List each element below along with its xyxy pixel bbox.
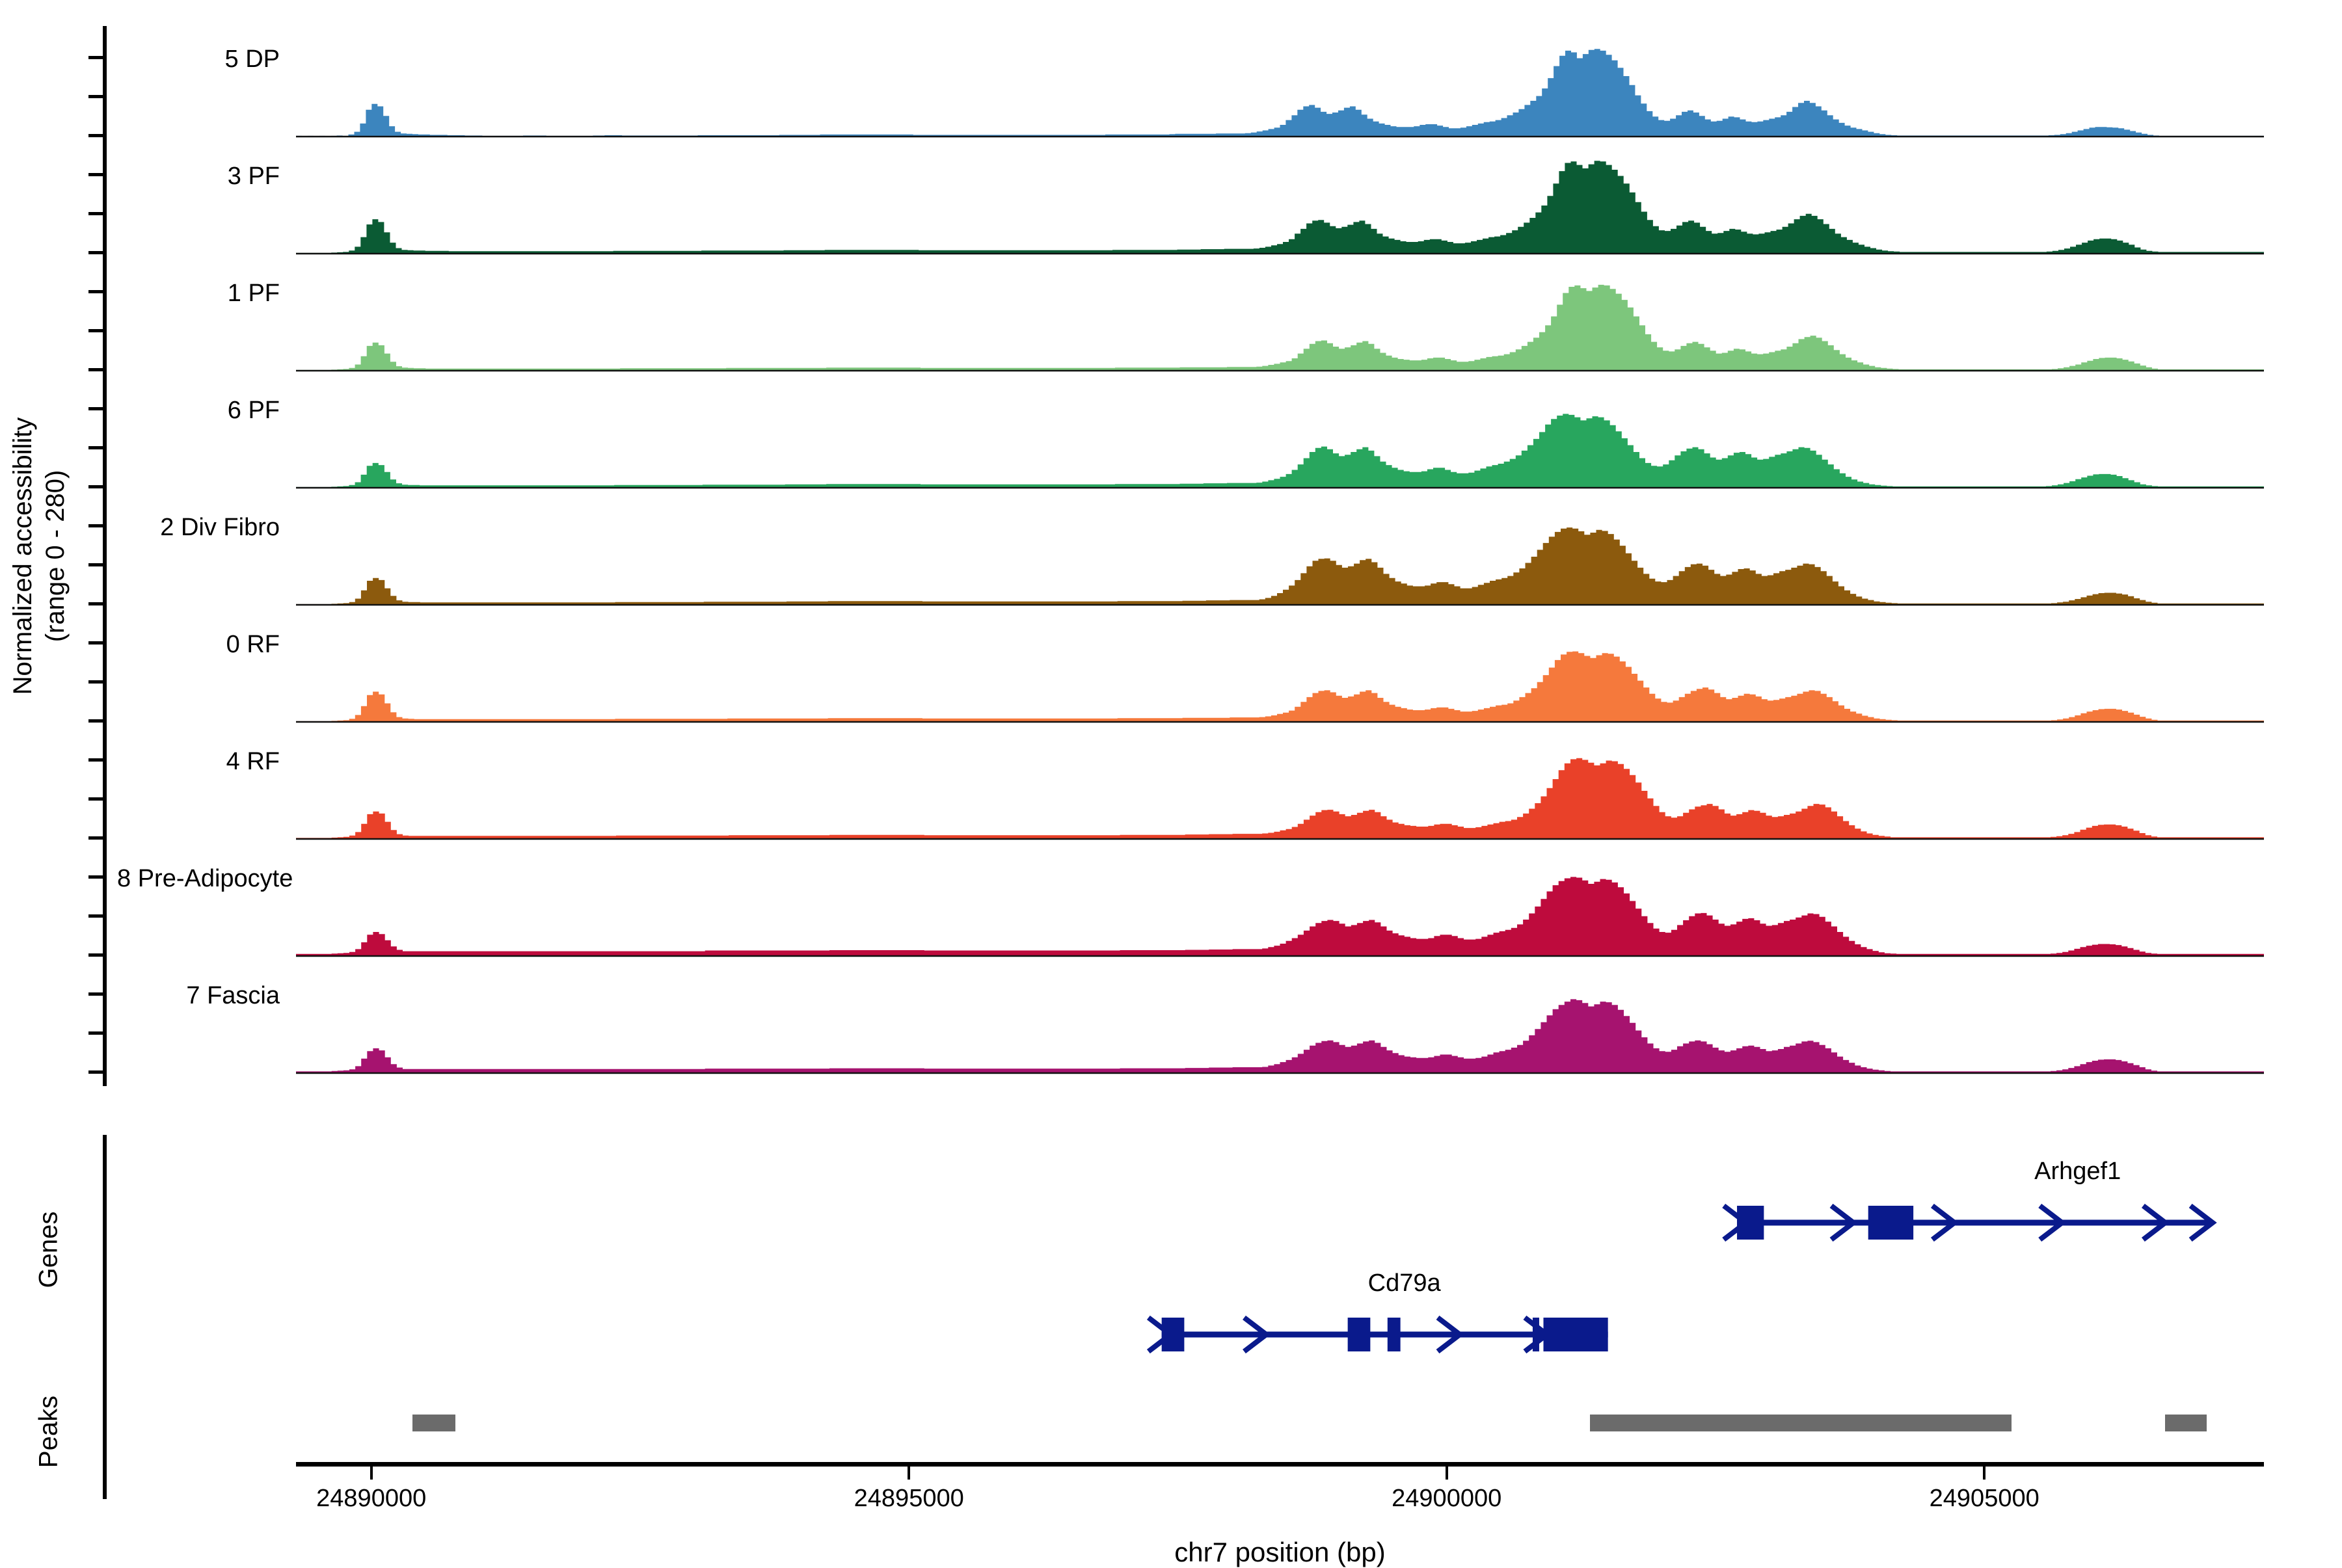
track-signal-area xyxy=(0,845,2342,963)
peak-region-bar xyxy=(412,1415,455,1431)
genome-browser-figure: Normalized accessibility (range 0 - 280)… xyxy=(0,0,2342,1561)
strand-arrow-icon xyxy=(1932,1206,1954,1240)
track-signal-area xyxy=(0,260,2342,377)
signal-track: 8 Pre-Adipocyte xyxy=(0,845,2342,963)
x-axis-tick-label: 24905000 xyxy=(1854,1485,2114,1513)
track-signal-area xyxy=(0,143,2342,260)
signal-track: 6 PF xyxy=(0,377,2342,494)
strand-arrow-icon xyxy=(1831,1206,1853,1240)
x-axis-line xyxy=(296,1462,2264,1467)
strand-arrow-icon xyxy=(2190,1206,2213,1240)
exon-box xyxy=(1868,1206,1913,1240)
exon-box xyxy=(1388,1318,1401,1351)
track-signal-area xyxy=(0,611,2342,728)
signal-track: 0 RF xyxy=(0,611,2342,728)
signal-track: 3 PF xyxy=(0,143,2342,260)
exon-box xyxy=(1162,1318,1185,1351)
strand-arrow-icon xyxy=(1724,1206,1746,1240)
strand-arrow-icon xyxy=(2143,1206,2165,1240)
genes-axis-line xyxy=(103,1135,107,1369)
genes-section-label: Genes xyxy=(34,1133,64,1367)
gene-name-label: Cd79a xyxy=(1209,1269,1600,1297)
strand-arrow-icon xyxy=(1438,1318,1460,1351)
gene-name-label: Arhgef1 xyxy=(1883,1158,2273,1186)
exon-box xyxy=(1348,1318,1371,1351)
peak-region-bar xyxy=(1590,1415,2012,1431)
signal-track: 7 Fascia xyxy=(0,963,2342,1080)
peak-region-bar xyxy=(2165,1415,2207,1431)
x-axis-title: chr7 position (bp) xyxy=(890,1537,1671,1568)
x-axis-tick-label: 24900000 xyxy=(1317,1485,1577,1513)
exon-box xyxy=(1533,1318,1539,1351)
exon-box xyxy=(1543,1318,1608,1351)
x-axis-tick xyxy=(908,1467,910,1480)
peaks-section-label: Peaks xyxy=(34,1367,64,1497)
signal-track: 2 Div Fibro xyxy=(0,494,2342,611)
track-signal-area xyxy=(0,377,2342,494)
strand-arrow-icon xyxy=(1148,1318,1170,1351)
exon-box xyxy=(1737,1206,1764,1240)
x-axis-tick xyxy=(1446,1467,1448,1480)
signal-track: 5 DP xyxy=(0,26,2342,143)
x-axis-tick-label: 24895000 xyxy=(779,1485,1039,1513)
track-signal-area xyxy=(0,728,2342,845)
x-axis-tick xyxy=(1983,1467,1985,1480)
signal-track: 4 RF xyxy=(0,728,2342,845)
strand-arrow-icon xyxy=(2040,1206,2062,1240)
track-signal-area xyxy=(0,26,2342,143)
x-axis-tick xyxy=(370,1467,373,1480)
signal-track: 1 PF xyxy=(0,260,2342,377)
strand-arrow-icon xyxy=(1525,1318,1547,1351)
track-signal-area xyxy=(0,963,2342,1080)
strand-arrow-icon xyxy=(1244,1318,1266,1351)
x-axis-tick-label: 24890000 xyxy=(241,1485,502,1513)
track-signal-area xyxy=(0,494,2342,611)
peaks-axis-line xyxy=(103,1369,107,1499)
